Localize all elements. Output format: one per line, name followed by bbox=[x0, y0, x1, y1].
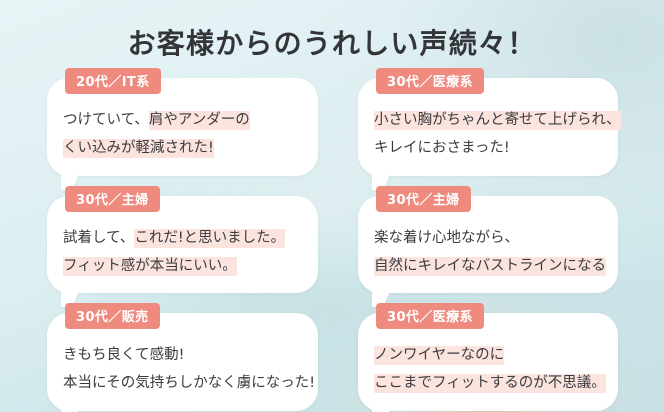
testimonial-line: フィット感が本当にいい。 bbox=[63, 252, 302, 280]
testimonial-bubble: 30代／主婦楽な着け心地ながら、自然にキレイなバストラインになる bbox=[358, 196, 618, 294]
bubble-tail-icon bbox=[372, 409, 390, 412]
testimonial-badge: 30代／主婦 bbox=[65, 186, 160, 212]
testimonial-line: キレイにおさまった! bbox=[374, 134, 602, 162]
testimonial-section: お客様からのうれしい声続々！ 20代／IT系つけていて、肩やアンダーのくい込みが… bbox=[0, 0, 664, 412]
highlighted-text: これだ!と思いました。 bbox=[134, 229, 285, 248]
testimonial-badge: 30代／医療系 bbox=[376, 303, 484, 329]
testimonial-badge: 30代／医療系 bbox=[376, 68, 484, 94]
testimonial-line: 試着して、これだ!と思いました。 bbox=[63, 224, 302, 252]
testimonial-bubble: 30代／販売きもち良くて感動!本当にその気持ちしかなく虜になった! bbox=[47, 313, 318, 411]
highlighted-text: 自然にキレイなバストラインになる bbox=[374, 257, 606, 276]
testimonial-line: ノンワイヤーなのに bbox=[374, 341, 602, 369]
testimonial-text: きもち良くて感動!本当にその気持ちしかなく虜になった! bbox=[63, 341, 302, 398]
testimonial-badge: 20代／IT系 bbox=[65, 68, 161, 94]
testimonial-bubble: 20代／IT系つけていて、肩やアンダーのくい込みが軽減された! bbox=[47, 78, 318, 176]
testimonial-text: ノンワイヤーなのにここまでフィットするのが不思議。 bbox=[374, 341, 602, 398]
testimonial-line: ここまでフィットするのが不思議。 bbox=[374, 369, 602, 397]
highlighted-text: 肩やアンダーの bbox=[149, 111, 250, 130]
testimonial-badge: 30代／販売 bbox=[65, 303, 160, 329]
testimonial-bubble: 30代／医療系ノンワイヤーなのにここまでフィットするのが不思議。 bbox=[358, 313, 618, 411]
plain-text: きもち良くて感動! bbox=[63, 347, 184, 363]
testimonial-line: くい込みが軽減された! bbox=[63, 134, 302, 162]
highlighted-text: ここまでフィットするのが不思議。 bbox=[374, 374, 606, 393]
bubble-tail-icon bbox=[61, 409, 79, 412]
testimonial-bubble: 30代／主婦試着して、これだ!と思いました。フィット感が本当にいい。 bbox=[47, 196, 318, 294]
highlighted-text: ノンワイヤーなのに bbox=[374, 346, 504, 365]
page-title: お客様からのうれしい声続々！ bbox=[0, 22, 664, 62]
plain-text: つけていて、 bbox=[63, 112, 149, 128]
testimonial-badge: 30代／主婦 bbox=[376, 186, 471, 212]
testimonial-text: 試着して、これだ!と思いました。フィット感が本当にいい。 bbox=[63, 224, 302, 281]
highlighted-text: くい込みが軽減された! bbox=[63, 139, 214, 158]
testimonial-text: つけていて、肩やアンダーのくい込みが軽減された! bbox=[63, 106, 302, 163]
testimonial-line: 自然にキレイなバストラインになる bbox=[374, 252, 602, 280]
highlighted-text: フィット感が本当にいい。 bbox=[63, 257, 237, 276]
highlighted-text: 小さい胸がちゃんと寄せて上げられ、 bbox=[374, 111, 621, 130]
plain-text: 楽な着け心地ながら、 bbox=[374, 230, 519, 246]
plain-text: 試着して、 bbox=[63, 230, 134, 246]
testimonial-text: 小さい胸がちゃんと寄せて上げられ、キレイにおさまった! bbox=[374, 106, 602, 163]
plain-text: キレイにおさまった! bbox=[374, 140, 510, 156]
testimonial-line: 楽な着け心地ながら、 bbox=[374, 224, 602, 252]
testimonial-bubble: 30代／医療系小さい胸がちゃんと寄せて上げられ、キレイにおさまった! bbox=[358, 78, 618, 176]
testimonial-text: 楽な着け心地ながら、自然にキレイなバストラインになる bbox=[374, 224, 602, 281]
testimonial-line: つけていて、肩やアンダーの bbox=[63, 106, 302, 134]
testimonial-line: 小さい胸がちゃんと寄せて上げられ、 bbox=[374, 106, 602, 134]
testimonial-line: 本当にその気持ちしかなく虜になった! bbox=[63, 369, 302, 397]
plain-text: 本当にその気持ちしかなく虜になった! bbox=[63, 375, 315, 391]
testimonial-line: きもち良くて感動! bbox=[63, 341, 302, 369]
testimonial-grid: 20代／IT系つけていて、肩やアンダーのくい込みが軽減された!30代／医療系小さ… bbox=[47, 78, 619, 411]
